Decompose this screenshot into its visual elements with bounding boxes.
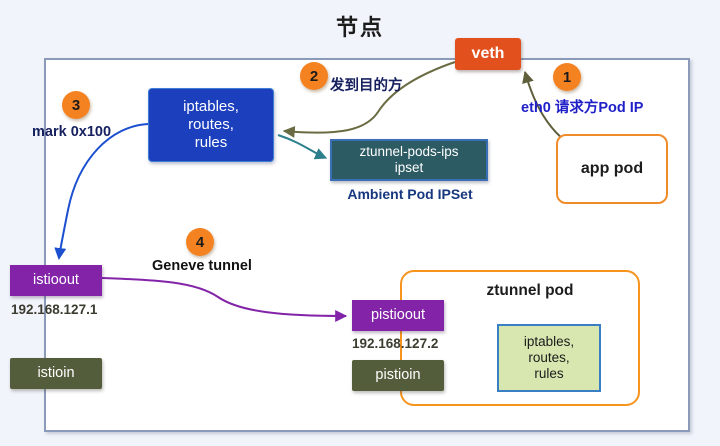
step-label-2: 发到目的方 (330, 74, 403, 95)
step-label-3: mark 0x100 (32, 124, 111, 140)
iptables-ztunnel-line-1: iptables, (524, 334, 574, 350)
diagram-canvas: 节点 (0, 0, 720, 446)
iptables-node-line-1: iptables, (183, 98, 239, 116)
iptables-routes-rules-node-box[interactable]: iptables, routes, rules (148, 88, 274, 162)
page-title: 节点 (0, 10, 720, 42)
istioout-ip-label: 192.168.127.1 (11, 302, 97, 317)
ztunnel-pod-label: ztunnel pod (440, 282, 620, 300)
istioin-interface-box[interactable]: istioin (10, 358, 102, 389)
iptables-ztunnel-line-3: rules (534, 366, 563, 382)
step-label-1: eth0 请求方Pod IP (521, 96, 643, 117)
pistioout-ip-label: 192.168.127.2 (352, 336, 438, 351)
iptables-node-line-3: rules (195, 134, 228, 152)
ztunnel-pods-ips-ipset-box[interactable]: ztunnel-pods-ips ipset (330, 139, 488, 181)
ambient-pod-ipset-caption: Ambient Pod IPSet (322, 186, 498, 202)
iptables-routes-rules-ztunnel-box[interactable]: iptables, routes, rules (497, 324, 601, 392)
step-marker-1: 1 (553, 63, 581, 91)
step-marker-3: 3 (62, 91, 90, 119)
step-marker-2: 2 (300, 62, 328, 90)
istioout-interface-box[interactable]: istioout (10, 265, 102, 296)
ipset-line-2: ipset (395, 160, 424, 176)
app-pod-box[interactable]: app pod (556, 134, 668, 204)
pistioout-interface-box[interactable]: pistioout (352, 300, 444, 331)
iptables-ztunnel-line-2: routes, (528, 350, 569, 366)
pistioin-interface-box[interactable]: pistioin (352, 360, 444, 391)
iptables-node-line-2: routes, (188, 116, 234, 134)
step-label-4: Geneve tunnel (152, 258, 252, 274)
ipset-line-1: ztunnel-pods-ips (359, 144, 458, 160)
veth-box[interactable]: veth (455, 38, 521, 70)
step-marker-4: 4 (186, 228, 214, 256)
